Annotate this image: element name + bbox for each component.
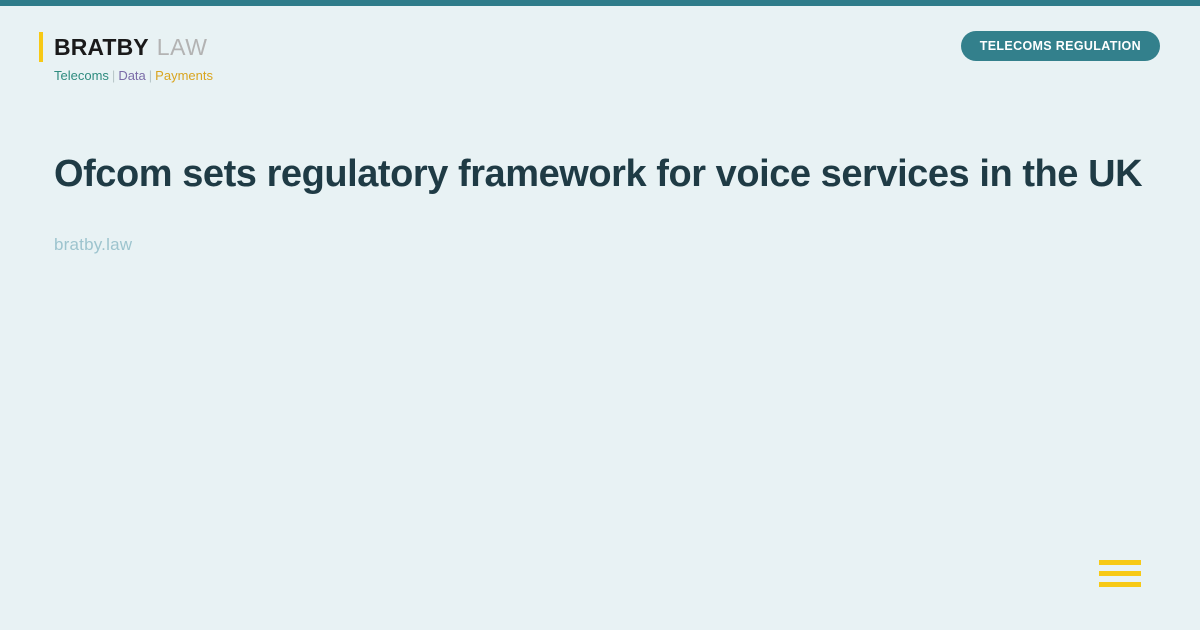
hamburger-bar-3 (1099, 582, 1141, 587)
site-url: bratby.law (54, 235, 1134, 255)
page-title: Ofcom sets regulatory framework for voic… (54, 152, 1134, 197)
page-header: BRATBY LAW Telecoms|Data|Payments TELECO… (0, 6, 1200, 92)
brand-name-row: BRATBY LAW (39, 32, 213, 62)
hamburger-bar-2 (1099, 571, 1141, 576)
brand-logo[interactable]: BRATBY LAW Telecoms|Data|Payments (39, 32, 213, 82)
category-badge[interactable]: TELECOMS REGULATION (961, 31, 1160, 61)
tagline-data: Data (118, 68, 145, 83)
tagline-telecoms: Telecoms (54, 68, 109, 83)
brand-suffix: LAW (157, 36, 208, 59)
tagline-payments: Payments (155, 68, 213, 83)
tagline-separator-1: | (109, 68, 118, 83)
brand-name: BRATBY (54, 36, 149, 59)
hamburger-bar-1 (1099, 560, 1141, 565)
brand-tagline: Telecoms|Data|Payments (54, 69, 213, 82)
brand-accent-bar (39, 32, 43, 62)
hamburger-menu-icon[interactable] (1099, 560, 1141, 587)
main-content: Ofcom sets regulatory framework for voic… (54, 152, 1134, 255)
tagline-separator-2: | (146, 68, 155, 83)
